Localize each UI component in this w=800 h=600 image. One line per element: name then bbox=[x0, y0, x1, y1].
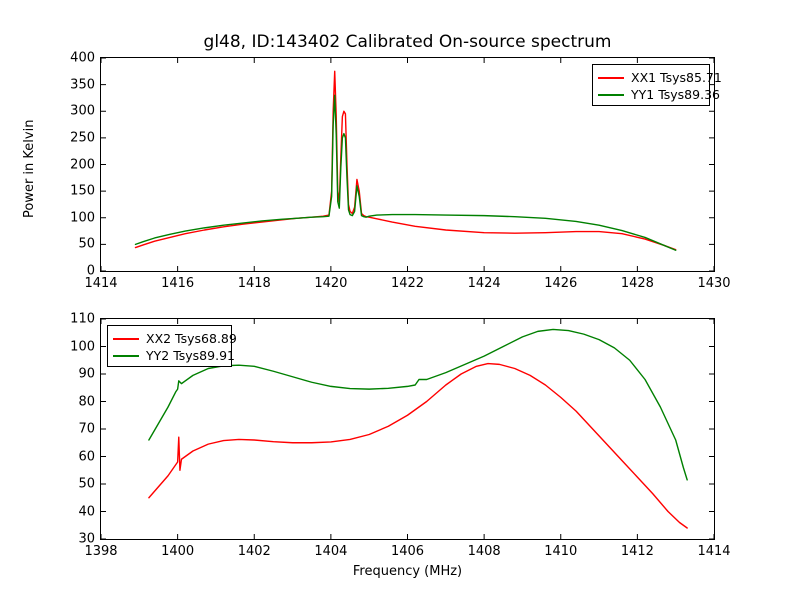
tick-label-y: 350 bbox=[55, 77, 95, 92]
legend-label-yy2: YY2 Tsys89.91 bbox=[146, 348, 235, 363]
tick-label-y: 200 bbox=[55, 157, 95, 172]
bottom-plot-xlabel: Frequency (MHz) bbox=[100, 564, 715, 579]
legend-item: XX1 Tsys85.71 bbox=[598, 69, 703, 86]
tick-label-x: 1420 bbox=[314, 276, 347, 291]
tick-label-y: 80 bbox=[55, 394, 95, 409]
tick-label-x: 1398 bbox=[84, 544, 117, 559]
tick-label-y: 90 bbox=[55, 367, 95, 382]
legend-item: YY2 Tsys89.91 bbox=[113, 347, 225, 364]
tick-label-x: 1428 bbox=[621, 276, 654, 291]
figure-canvas: gl48, ID:143402 Calibrated On-source spe… bbox=[0, 0, 800, 600]
tick-label-y: 150 bbox=[55, 184, 95, 199]
tick-label-x: 1422 bbox=[391, 276, 424, 291]
tick-label-x: 1408 bbox=[468, 544, 501, 559]
tick-label-x: 1426 bbox=[544, 276, 577, 291]
tick-label-y: 250 bbox=[55, 130, 95, 145]
legend-line-swatch-yy1 bbox=[598, 94, 624, 96]
tick-label-x: 1404 bbox=[314, 544, 347, 559]
tick-label-y: 70 bbox=[55, 422, 95, 437]
legend-item: XX2 Tsys68.89 bbox=[113, 330, 225, 347]
legend-line-swatch-xx1 bbox=[598, 77, 624, 79]
legend-label-xx2: XX2 Tsys68.89 bbox=[146, 331, 237, 346]
bottom-plot-legend: XX2 Tsys68.89 YY2 Tsys89.91 bbox=[107, 325, 232, 367]
legend-line-swatch-xx2 bbox=[113, 338, 139, 340]
tick-label-y: 50 bbox=[55, 237, 95, 252]
tick-label-x: 1414 bbox=[697, 544, 730, 559]
top-plot-ylabel: Power in Kelvin bbox=[22, 120, 37, 218]
legend-line-swatch-yy2 bbox=[113, 355, 139, 357]
tick-label-y: 40 bbox=[55, 504, 95, 519]
tick-label-y: 100 bbox=[55, 210, 95, 225]
figure-title: gl48, ID:143402 Calibrated On-source spe… bbox=[100, 32, 715, 52]
tick-label-y: 60 bbox=[55, 449, 95, 464]
tick-label-x: 1418 bbox=[238, 276, 271, 291]
top-plot-legend: XX1 Tsys85.71 YY1 Tsys89.36 bbox=[592, 64, 710, 106]
tick-label-x: 1406 bbox=[391, 544, 424, 559]
legend-item: YY1 Tsys89.36 bbox=[598, 86, 703, 103]
tick-label-y: 300 bbox=[55, 104, 95, 119]
tick-label-x: 1402 bbox=[238, 544, 271, 559]
legend-label-yy1: YY1 Tsys89.36 bbox=[631, 87, 720, 102]
tick-label-x: 1430 bbox=[697, 276, 730, 291]
tick-label-y: 400 bbox=[55, 51, 95, 66]
tick-label-x: 1414 bbox=[84, 276, 117, 291]
tick-label-x: 1400 bbox=[161, 544, 194, 559]
tick-label-x: 1416 bbox=[161, 276, 194, 291]
tick-label-x: 1412 bbox=[621, 544, 654, 559]
tick-label-x: 1424 bbox=[468, 276, 501, 291]
tick-label-x: 1410 bbox=[544, 544, 577, 559]
legend-label-xx1: XX1 Tsys85.71 bbox=[631, 70, 722, 85]
tick-label-y: 110 bbox=[55, 312, 95, 327]
tick-label-y: 50 bbox=[55, 477, 95, 492]
tick-label-y: 100 bbox=[55, 339, 95, 354]
